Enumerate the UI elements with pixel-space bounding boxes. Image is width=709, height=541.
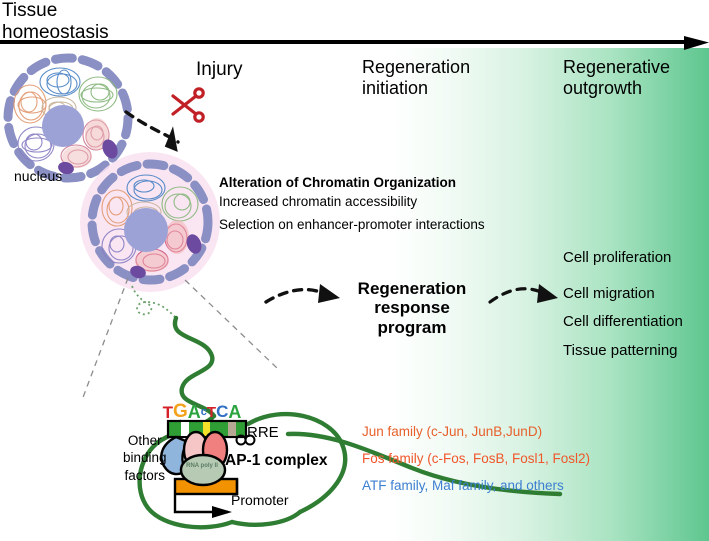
outcome-cell-proliferation: Cell proliferation: [563, 249, 671, 266]
figure-canvas: Tissue homeostasis Regeneration initiati…: [0, 0, 709, 541]
tf-family-fos: Fos family (c-Fos, FosB, Fosl1, Fosl2): [362, 451, 590, 466]
tf-family-jun: Jun family (c-Jun, JunB,JunD): [362, 424, 542, 439]
outcome-cell-migration: Cell migration: [563, 285, 655, 302]
outcomes-arrow: [0, 0, 709, 541]
outcome-cell-differentiation: Cell differentiation: [563, 313, 683, 330]
outcome-tissue-patterning: Tissue patterning: [563, 342, 678, 359]
tf-family-atf-maf: ATF family, Maf family, and others: [362, 478, 564, 493]
